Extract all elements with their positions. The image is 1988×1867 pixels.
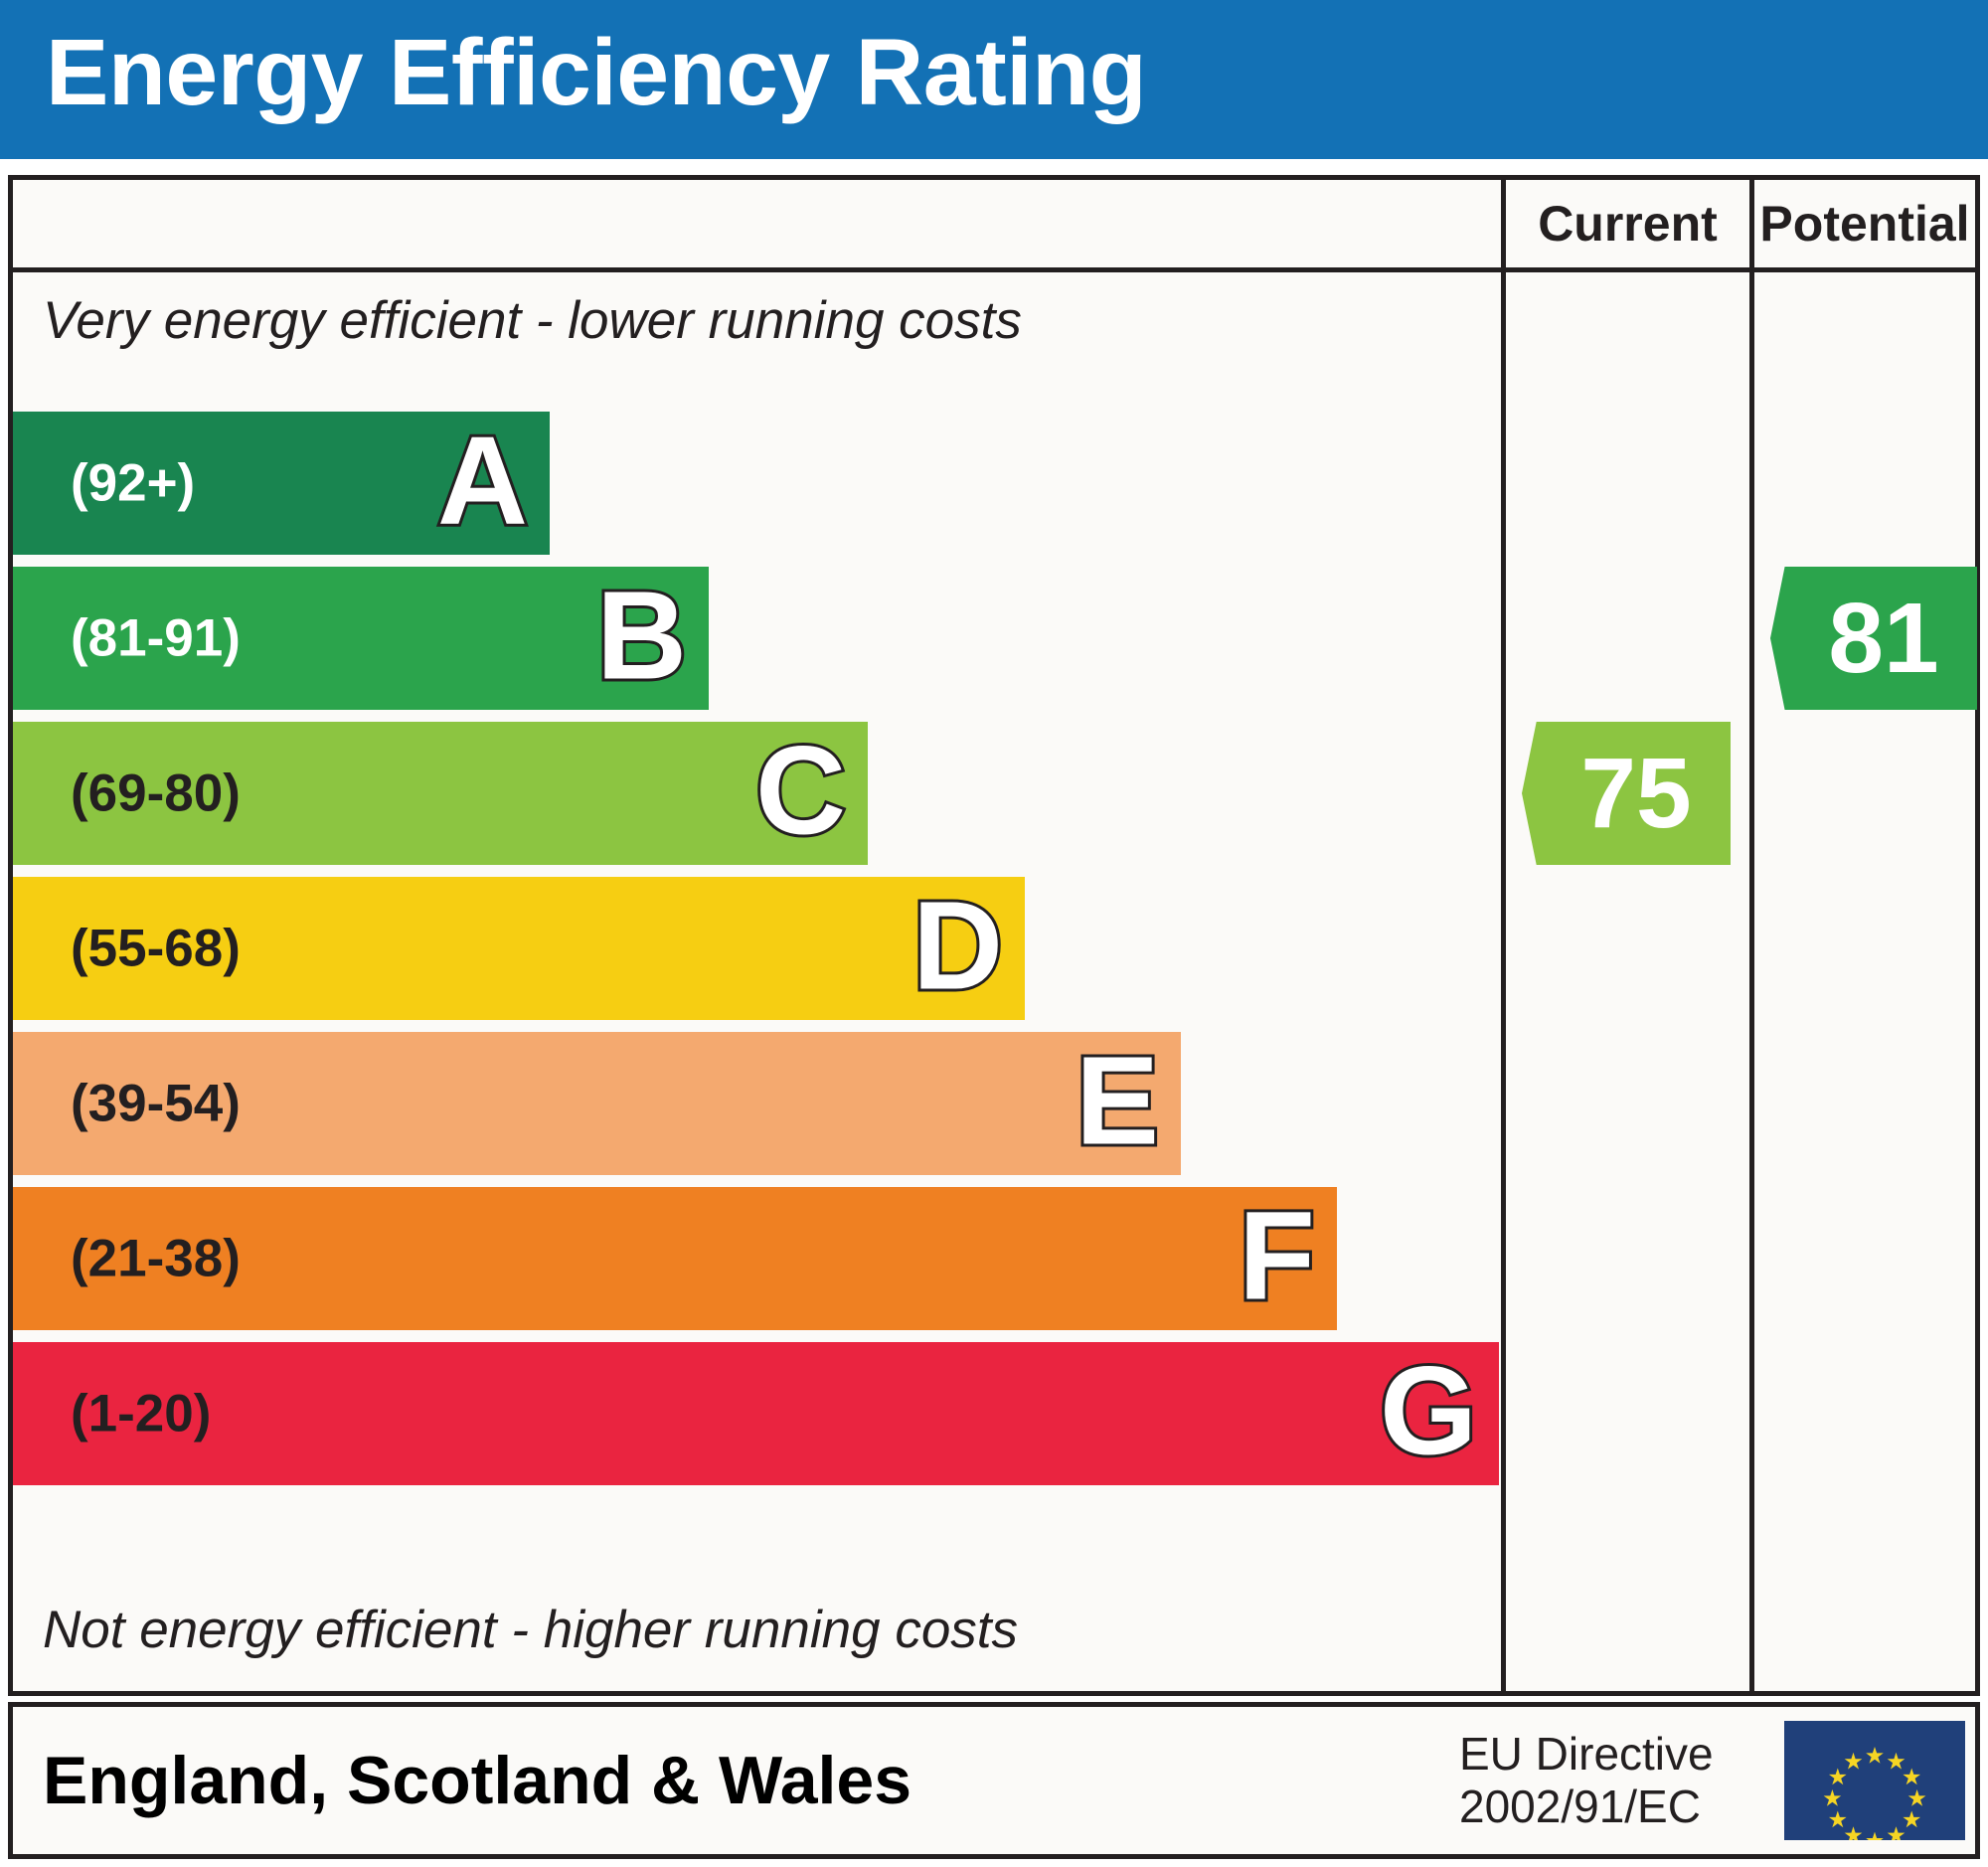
- band-letter-c: C: [755, 728, 846, 853]
- band-letter-f: F: [1239, 1193, 1315, 1318]
- title-bar: Energy Efficiency Rating: [0, 0, 1988, 159]
- potential-rating-value: 81: [1828, 582, 1938, 696]
- band-range-f: (21-38): [71, 1229, 241, 1289]
- band-range-c: (69-80): [71, 764, 241, 824]
- rating-table-frame: Current Potential Very energy efficient …: [8, 175, 1980, 1696]
- potential-rating-badge: 81: [1770, 567, 1977, 710]
- band-letter-b: B: [596, 573, 687, 698]
- column-divider-left: [1501, 272, 1506, 1696]
- band-row-g: (1-20) G: [13, 1342, 1499, 1485]
- eu-directive-line-2: 2002/91/EC: [1459, 1781, 1714, 1833]
- footer-bar: England, Scotland & Wales EU Directive 2…: [8, 1702, 1980, 1859]
- footer-eu-directive: EU Directive 2002/91/EC: [1459, 1728, 1714, 1833]
- band-range-d: (55-68): [71, 919, 241, 979]
- band-row-a: (92+) A: [13, 412, 550, 555]
- band-row-c: (69-80) C: [13, 722, 868, 865]
- page-title: Energy Efficiency Rating: [46, 26, 1146, 120]
- band-letter-g: G: [1380, 1348, 1477, 1473]
- band-range-a: (92+): [71, 453, 195, 514]
- bands-area: Very energy efficient - lower running co…: [13, 272, 1501, 1696]
- band-letter-e: E: [1076, 1038, 1159, 1163]
- energy-efficiency-rating-certificate: Energy Efficiency Rating Current Potenti…: [0, 0, 1988, 1867]
- current-rating-value: 75: [1580, 737, 1691, 851]
- table-header-row: Current Potential: [13, 180, 1975, 272]
- band-row-f: (21-38) F: [13, 1187, 1337, 1330]
- band-range-g: (1-20): [71, 1384, 211, 1444]
- band-row-b: (81-91) B: [13, 567, 709, 710]
- eu-flag-icon: [1784, 1721, 1965, 1840]
- caption-not-efficient: Not energy efficient - higher running co…: [43, 1600, 1018, 1660]
- eu-directive-line-1: EU Directive: [1459, 1728, 1714, 1781]
- band-row-d: (55-68) D: [13, 877, 1025, 1020]
- footer-region-label: England, Scotland & Wales: [43, 1742, 911, 1819]
- band-letter-d: D: [912, 883, 1003, 1008]
- caption-very-efficient: Very energy efficient - lower running co…: [43, 290, 1022, 351]
- column-divider-right: [1749, 272, 1754, 1696]
- band-letter-a: A: [437, 418, 528, 543]
- band-row-e: (39-54) E: [13, 1032, 1181, 1175]
- current-rating-badge: 75: [1522, 722, 1731, 865]
- band-range-e: (39-54): [71, 1074, 241, 1134]
- band-range-b: (81-91): [71, 608, 241, 669]
- column-header-potential: Potential: [1749, 180, 1975, 267]
- column-header-current: Current: [1501, 180, 1749, 267]
